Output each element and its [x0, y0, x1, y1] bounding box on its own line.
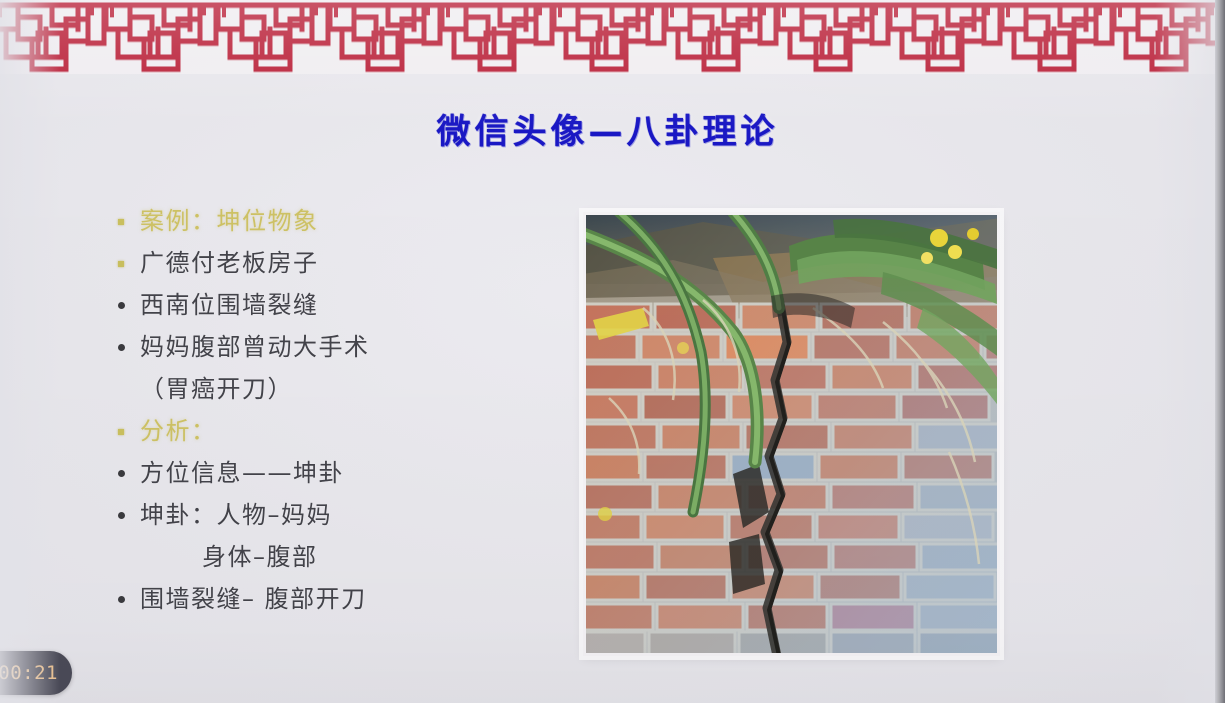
timer-label: 0:00:21: [0, 662, 58, 684]
list-item: 西南位围墙裂缝: [118, 284, 548, 326]
list-item-label: 案例：坤位物象: [140, 200, 319, 242]
bullet-list: 案例：坤位物象广德付老板房子西南位围墙裂缝妈妈腹部曾动大手术（胃癌开刀）分析：方…: [118, 200, 548, 620]
list-item: 围墙裂缝– 腹部开刀: [118, 578, 548, 620]
bullet-square-icon: [118, 420, 140, 439]
list-item: 身体–腹部: [118, 536, 548, 578]
right-edge-strip: [1215, 0, 1225, 703]
list-item-label: 分析：: [140, 410, 217, 452]
recording-timer[interactable]: 0:00:21: [0, 651, 72, 695]
bullet-square-icon: [118, 210, 140, 229]
list-item-label: 方位信息——坤卦: [140, 452, 344, 494]
cracked-brick-wall-photo: [583, 212, 1000, 656]
bullet-dot-icon: [118, 504, 140, 523]
list-item-label: 妈妈腹部曾动大手术: [140, 326, 370, 368]
list-item-label: 西南位围墙裂缝: [140, 284, 319, 326]
list-item: 妈妈腹部曾动大手术: [118, 326, 548, 368]
bullet-dot-icon: [118, 588, 140, 607]
list-item-label: 围墙裂缝– 腹部开刀: [140, 578, 367, 620]
list-item: 案例：坤位物象: [118, 200, 548, 242]
list-item: 坤卦：人物–妈妈: [118, 494, 548, 536]
list-item: 广德付老板房子: [118, 242, 548, 284]
bullet-none-icon: [118, 378, 140, 397]
list-item-label: 身体–腹部: [140, 536, 318, 578]
list-item: 方位信息——坤卦: [118, 452, 548, 494]
list-item-label: 坤卦：人物–妈妈: [140, 494, 332, 536]
page-title: 微信头像—八卦理论: [0, 104, 1215, 153]
bullet-none-icon: [118, 546, 140, 565]
list-item: 分析：: [118, 410, 548, 452]
bullet-dot-icon: [118, 294, 140, 313]
bullet-square-icon: [118, 252, 140, 271]
bullet-dot-icon: [118, 462, 140, 481]
list-item: （胃癌开刀）: [118, 368, 548, 410]
bullet-dot-icon: [118, 336, 140, 355]
list-item-label: 广德付老板房子: [140, 242, 319, 284]
screen-capture: 微信头像—八卦理论 案例：坤位物象广德付老板房子西南位围墙裂缝妈妈腹部曾动大手术…: [0, 0, 1225, 703]
list-item-label: （胃癌开刀）: [140, 368, 293, 410]
chinese-meander-border: [0, 0, 1225, 80]
